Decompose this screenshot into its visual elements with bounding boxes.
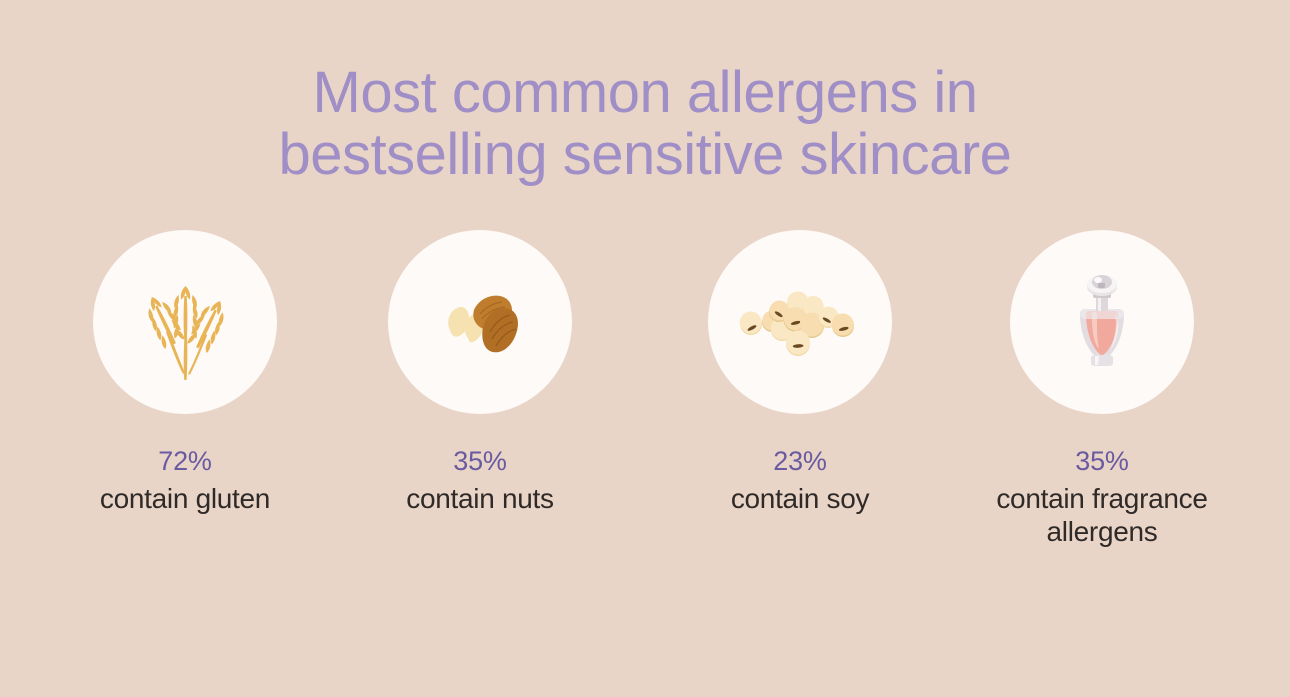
allergen-stat-gluten: 72% contain gluten	[35, 230, 335, 515]
allergen-stats-group: 72% contain gluten	[0, 230, 1290, 570]
icon-circle-fragrance	[1010, 230, 1194, 414]
stat-percent: 35%	[952, 444, 1252, 479]
stat-percent: 72%	[35, 444, 335, 479]
stat-caption: contain soy	[650, 482, 950, 516]
stat-caption: contain nuts	[330, 482, 630, 516]
allergen-stat-soy: 23% contain soy	[650, 230, 950, 515]
stat-percent: 23%	[650, 444, 950, 479]
stat-caption: contain gluten	[35, 482, 335, 516]
icon-circle-gluten	[93, 230, 277, 414]
allergen-stat-nuts: 35% contain nuts	[330, 230, 630, 515]
stat-caption: contain fragrance allergens	[952, 482, 1252, 549]
icon-circle-soy	[708, 230, 892, 414]
allergen-stat-fragrance: 35% contain fragrance allergens	[952, 230, 1252, 549]
icon-circle-nuts	[388, 230, 572, 414]
stat-percent: 35%	[330, 444, 630, 479]
page-title: Most common allergens in bestselling sen…	[0, 62, 1290, 186]
